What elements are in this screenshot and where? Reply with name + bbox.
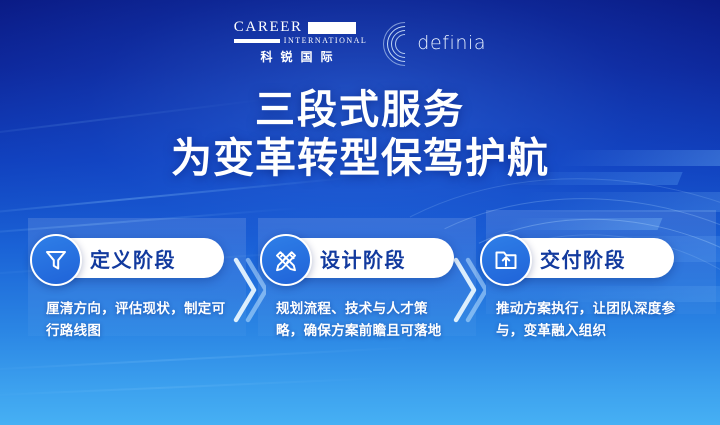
- career-wordmark: CAREER: [234, 20, 303, 35]
- career-international-text: INTERNATIONAL: [284, 37, 368, 45]
- career-logo-block: [308, 22, 356, 34]
- definia-logo: definia: [387, 23, 486, 63]
- geometric-band: [508, 218, 663, 230]
- career-logo-bar: [234, 39, 280, 43]
- poster-canvas: CAREER INTERNATIONAL 科锐国际 definia 三段式服务 …: [0, 0, 720, 425]
- stage-card-define[interactable]: 定义阶段 厘清方向，评估现状，制定可行路线图: [46, 238, 251, 342]
- career-international-logo: CAREER INTERNATIONAL 科锐国际: [234, 20, 368, 65]
- stage-description: 厘清方向，评估现状，制定可行路线图: [46, 298, 236, 342]
- light-streak: [0, 176, 359, 218]
- career-wordmark-row: CAREER: [234, 20, 356, 35]
- geometric-band: [516, 192, 720, 212]
- headline-line-1: 三段式服务: [0, 86, 720, 134]
- stage-description: 规划流程、技术与人才策略，确保方案前瞻且可落地: [276, 298, 454, 342]
- folder-upload-icon: [480, 234, 532, 286]
- stages-row: 定义阶段 厘清方向，评估现状，制定可行路线图 设计阶段: [0, 238, 720, 398]
- logo-bar: CAREER INTERNATIONAL 科锐国际 definia: [0, 20, 720, 65]
- career-chinese-name: 科锐国际: [234, 48, 368, 65]
- headline-line-2: 为变革转型保驾护航: [0, 134, 720, 182]
- headline-block: 三段式服务 为变革转型保驾护航: [0, 86, 720, 182]
- stage-card-design[interactable]: 设计阶段 规划流程、技术与人才策略，确保方案前瞻且可落地: [276, 238, 491, 342]
- stage-title-pill[interactable]: 交付阶段: [496, 238, 674, 278]
- career-subline-row: INTERNATIONAL: [234, 37, 368, 45]
- stage-description: 推动方案执行，让团队深度参与，变革融入组织: [496, 298, 696, 342]
- stage-title-label: 设计阶段: [320, 244, 406, 273]
- stage-card-deliver[interactable]: 交付阶段 推动方案执行，让团队深度参与，变革融入组织: [496, 238, 711, 342]
- stage-title-label: 定义阶段: [90, 244, 176, 273]
- funnel-icon: [30, 234, 82, 286]
- stage-title-pill[interactable]: 定义阶段: [46, 238, 224, 278]
- stage-title-label: 交付阶段: [540, 244, 626, 273]
- ruler-pencil-icon: [260, 234, 312, 286]
- light-streak: [0, 207, 299, 238]
- definia-wordmark: definia: [417, 32, 486, 54]
- stage-title-pill[interactable]: 设计阶段: [276, 238, 454, 278]
